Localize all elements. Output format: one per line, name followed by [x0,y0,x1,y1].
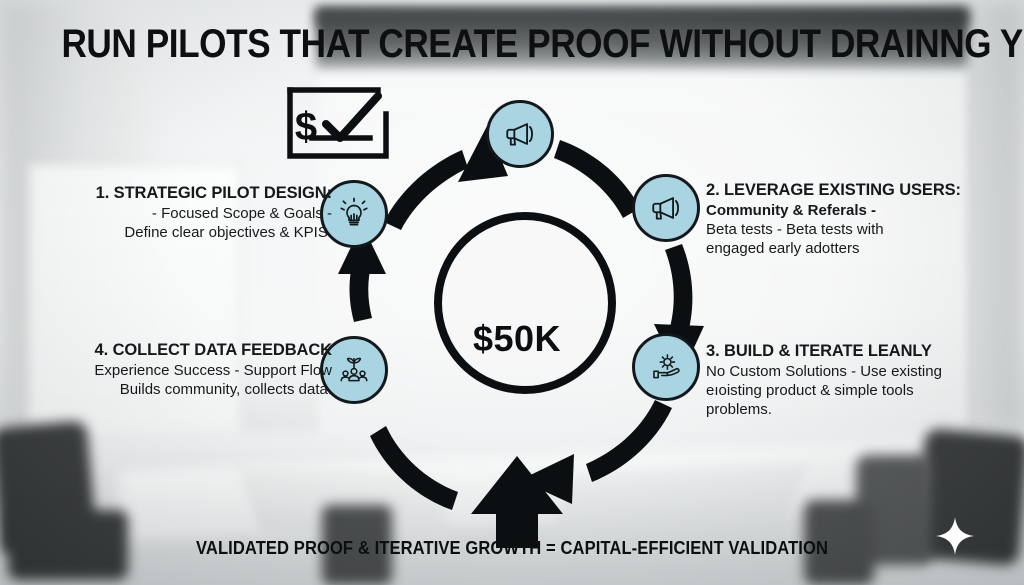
step-3-line-2: eıoisting product & simple tools [706,381,978,400]
slide-caption: VALIDATED PROOF & ITERATIVE GROWTH = CAP… [41,538,983,559]
arc-arrow-br-to-bottom-tail [586,400,672,482]
step-4-heading: 4. COLLECT DATA FEEDBACK [60,340,332,361]
step-3-line-1: No Custom Solutions - Use existing [706,362,978,381]
step-1-subheading: - Focused Scope & Goals - [84,204,332,223]
step-1-block: 1. STRATEGIC PILOT DESIGN: - Focused Sco… [84,183,332,242]
slide-title: RUN PILOTS THAT CREATE PROOF WITHOUT DRA… [61,22,962,67]
people-growth-icon [337,353,371,387]
step-1-heading: 1. STRATEGIC PILOT DESIGN: [84,183,332,204]
node-top-megaphone[interactable] [486,100,554,168]
megaphone-icon [503,117,537,151]
node-bottom-right-hand-gear[interactable] [632,333,700,401]
center-amount: $50K [434,318,600,360]
megaphone-icon [649,191,683,225]
arc-arrow-bl-arc [370,426,458,510]
cycle-diagram: $ $50K [282,78,752,548]
sparkle-icon [934,515,976,557]
step-2-block: 2. LEVERAGE EXISTING USERS: Community & … [706,180,974,258]
lightbulb-icon [337,197,371,231]
step-2-line-1: Beta tests - Beta tests with [706,220,974,239]
step-2-subheading: Community & Referals - [706,201,974,220]
step-4-line-2: Builds community, collects data. [60,380,332,399]
slide-canvas: RUN PILOTS THAT CREATE PROOF WITHOUT DRA… [0,0,1024,585]
step-3-block: 3. BUILD & ITERATE LEANLY No Custom Solu… [706,341,978,419]
step-1-line-1: Define clear objectives & KPIS. [84,223,332,242]
node-right-megaphone[interactable] [632,174,700,242]
check-dollar-icon: $ [282,78,410,170]
arc-arrow-top-to-right-tail [554,140,640,218]
center-circle [434,212,616,394]
step-2-heading: 2. LEVERAGE EXISTING USERS: [706,180,974,201]
hand-gear-icon [649,350,683,384]
svg-text:$: $ [295,105,317,149]
step-4-line-1: Experience Success - Support Flow [60,361,332,380]
step-3-heading: 3. BUILD & ITERATE LEANLY [706,341,978,362]
step-4-block: 4. COLLECT DATA FEEDBACK Experience Succ… [60,340,332,399]
step-3-line-3: problems. [706,400,978,419]
step-2-line-2: engaged early adotters [706,239,974,258]
